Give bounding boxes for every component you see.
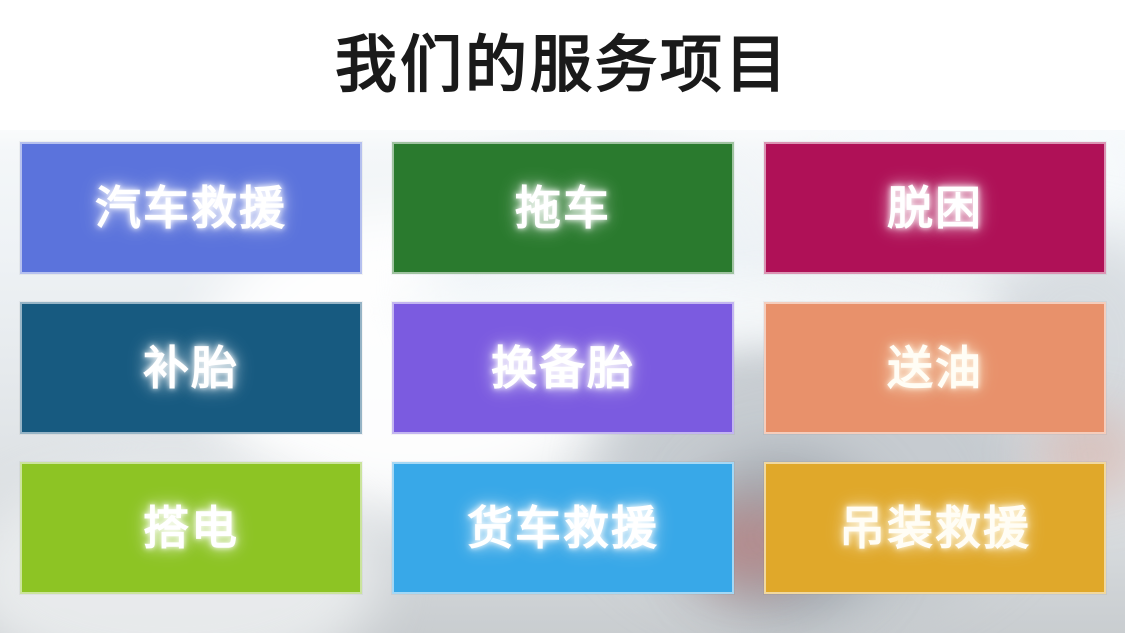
service-tile-label: 脱困: [887, 185, 983, 231]
service-tile-label: 汽车救援: [95, 185, 287, 231]
service-grid: 汽车救援 拖车 脱困 补胎 换备胎 送油 搭电 货车救援 吊装救援: [20, 142, 1105, 594]
service-tile-car-rescue[interactable]: 汽车救援: [20, 142, 362, 274]
page-title: 我们的服务项目: [335, 34, 790, 96]
service-tile-label: 货车救援: [467, 505, 659, 551]
service-poster: 我们的服务项目 汽车救援 拖车 脱困 补胎 换备胎 送油 搭电 货车救援 吊装救…: [0, 0, 1125, 633]
service-tile-label: 补胎: [143, 345, 239, 391]
service-tile-label: 吊装救援: [839, 505, 1031, 551]
title-band: 我们的服务项目: [0, 0, 1125, 130]
service-tile-spare-tire-change[interactable]: 换备胎: [392, 302, 734, 434]
service-tile-label: 送油: [887, 345, 983, 391]
service-tile-extrication[interactable]: 脱困: [764, 142, 1106, 274]
service-tile-fuel-delivery[interactable]: 送油: [764, 302, 1106, 434]
service-tile-jump-start[interactable]: 搭电: [20, 462, 362, 594]
service-tile-label: 换备胎: [491, 345, 635, 391]
service-tile-crane-rescue[interactable]: 吊装救援: [764, 462, 1106, 594]
service-tile-tire-repair[interactable]: 补胎: [20, 302, 362, 434]
service-tile-tow-truck[interactable]: 拖车: [392, 142, 734, 274]
service-tile-label: 搭电: [143, 505, 239, 551]
service-tile-truck-rescue[interactable]: 货车救援: [392, 462, 734, 594]
service-tile-label: 拖车: [515, 185, 611, 231]
